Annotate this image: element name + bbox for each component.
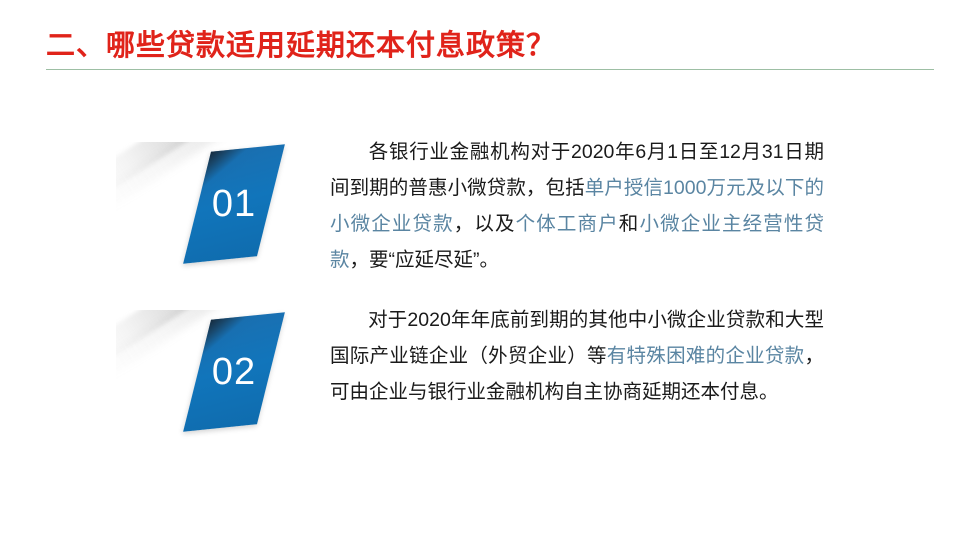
number-badge-01: 01 xyxy=(120,134,320,279)
paragraph-01: 各银行业金融机构对于2020年6月1日至12月31日期间到期的普惠小微贷款，包括… xyxy=(330,134,824,278)
slide-header: 二、哪些贷款适用延期还本付息政策？ xyxy=(0,0,960,80)
text-run: ，要“应延尽延”。 xyxy=(350,249,500,271)
badge-shape-02: 02 xyxy=(183,312,285,432)
number-badge-02: 02 xyxy=(120,302,320,447)
paragraph-02: 对于2020年年底前到期的其他中小微企业贷款和大型国际产业链企业（外贸企业）等有… xyxy=(330,302,824,410)
content-block-01: 01 各银行业金融机构对于2020年6月1日至12月31日期间到期的普惠小微贷款… xyxy=(0,128,960,288)
badge-shape-01: 01 xyxy=(183,144,285,264)
badge-number-label-02: 02 xyxy=(198,316,270,428)
text-run: 和 xyxy=(619,213,640,235)
page-title: 二、哪些贷款适用延期还本付息政策？ xyxy=(46,22,556,64)
badge-number-label-01: 01 xyxy=(198,148,270,260)
highlighted-text-run: 有特殊困难的企业贷款 xyxy=(607,345,805,367)
slide: 二、哪些贷款适用延期还本付息政策？ 01 各银行业金融机构对于2020年6月1日… xyxy=(0,0,960,540)
highlighted-text-run: 个体工商户 xyxy=(516,213,619,235)
text-run: ，以及 xyxy=(454,213,516,235)
content-block-02: 02 对于2020年年底前到期的其他中小微企业贷款和大型国际产业链企业（外贸企业… xyxy=(0,296,960,456)
title-divider xyxy=(46,69,934,70)
